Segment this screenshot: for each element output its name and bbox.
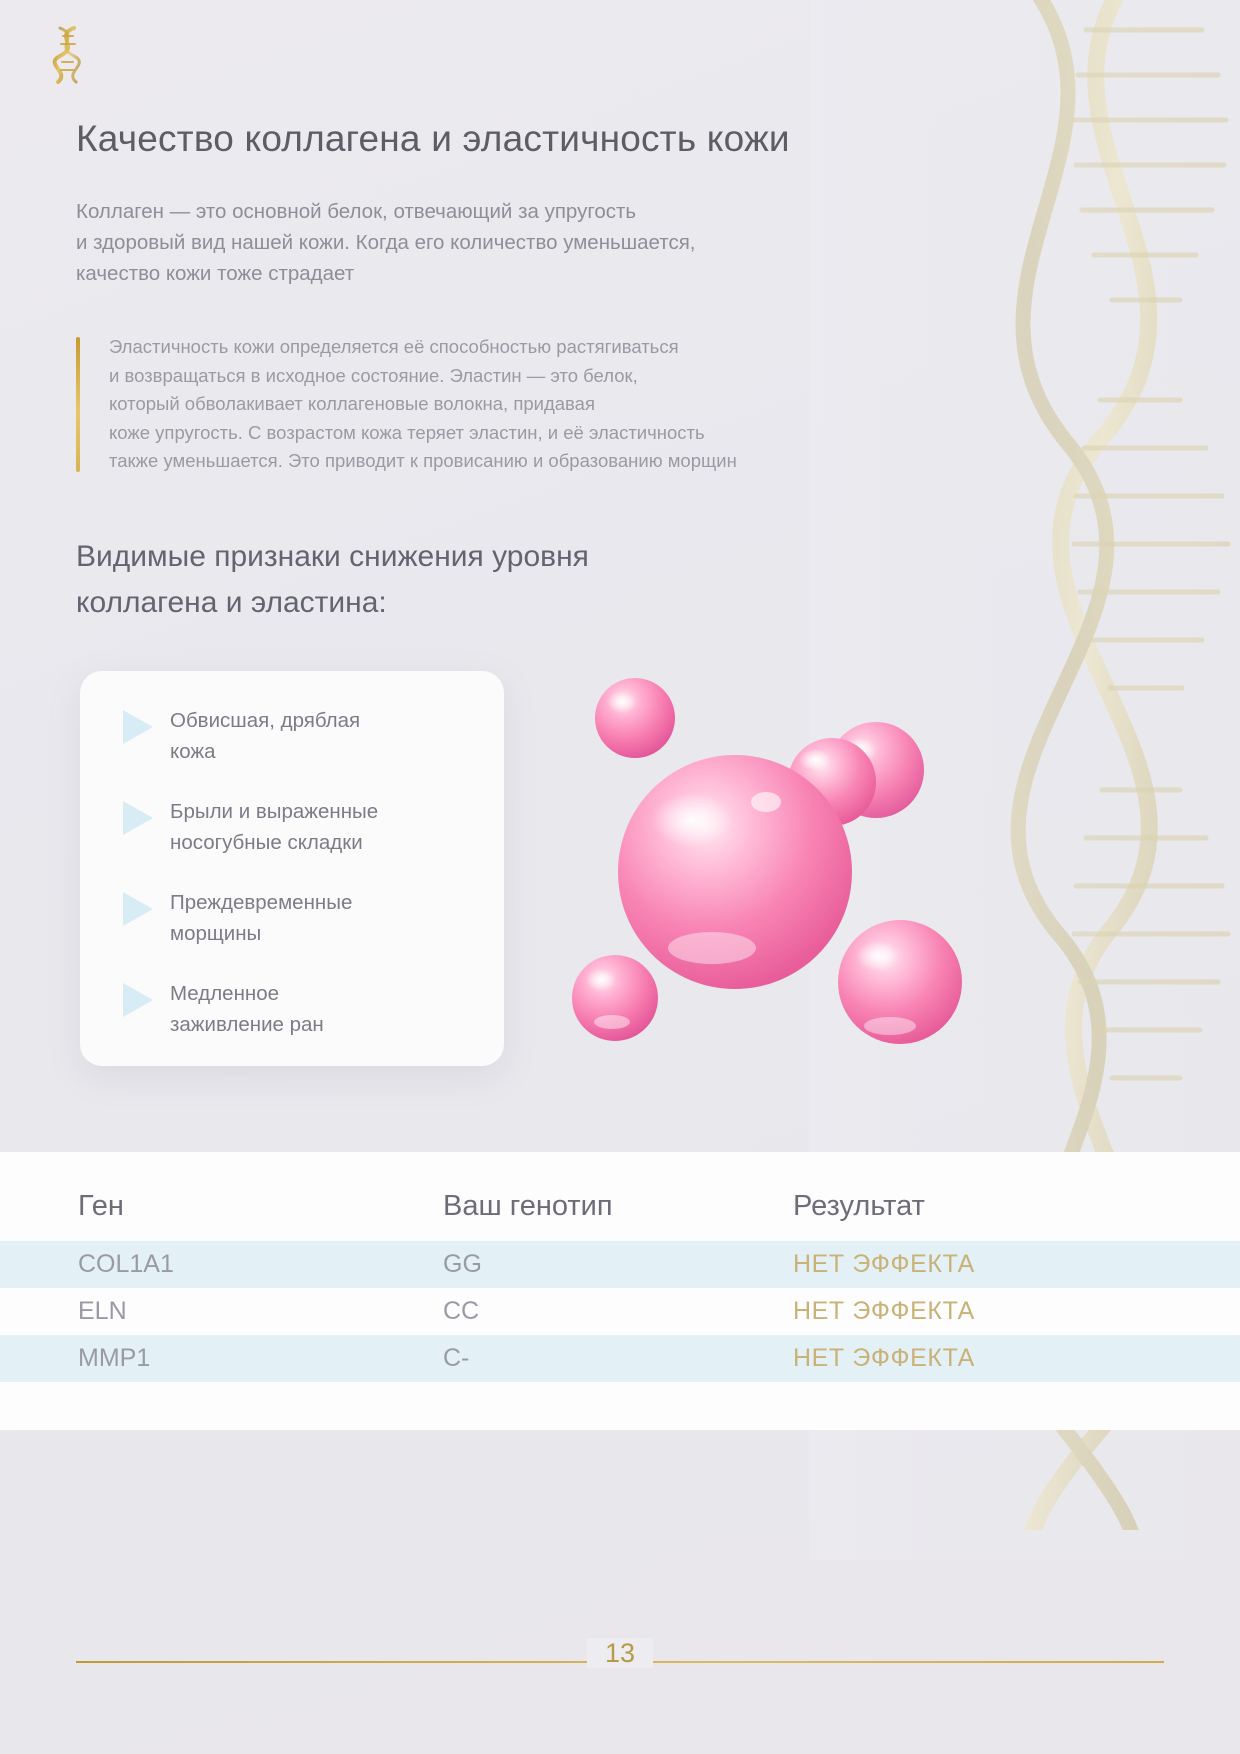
page-number-value: 13 <box>587 1638 653 1668</box>
triangle-bullet-icon <box>123 983 153 1017</box>
dna-helix-logo-icon <box>40 22 96 86</box>
visible-signs-card: Обвисшая, дряблая кожа Брыли и выраженны… <box>80 671 504 1066</box>
page-number: 13 <box>0 1638 1240 1669</box>
pink-collagen-bubbles-illustration <box>560 660 1020 1090</box>
section-heading: Видимые признаки снижения уровня коллаге… <box>76 534 876 626</box>
list-item-line-2: морщины <box>170 922 261 945</box>
triangle-bullet-icon <box>123 892 153 926</box>
list-item-line-1: Обвисшая, дряблая <box>170 709 360 732</box>
list-item-line-1: Медленное <box>170 982 279 1005</box>
list-item: Медленное заживление ран <box>102 976 480 1040</box>
triangle-bullet-icon <box>123 710 153 744</box>
cell-result: НЕТ ЭФФЕКТА <box>775 1335 1240 1382</box>
gene-results-table: Ген Ваш генотип Результат COL1A1 GG НЕТ … <box>0 1152 1240 1430</box>
list-item-text: Брыли и выраженные носогубные складки <box>170 794 378 858</box>
lead-line-2: и здоровый вид нашей кожи. Когда его кол… <box>76 227 976 258</box>
list-item-line-1: Преждевременные <box>170 891 352 914</box>
column-header-result: Результат <box>775 1152 1240 1241</box>
page-title: Качество коллагена и эластичность кожи <box>76 118 976 160</box>
column-header-genotype: Ваш генотип <box>365 1152 775 1241</box>
list-item-line-2: носогубные складки <box>170 831 363 854</box>
list-item-line-2: заживление ран <box>170 1013 324 1036</box>
list-item: Обвисшая, дряблая кожа <box>102 703 480 767</box>
table-bottom-spacer <box>0 1382 1240 1430</box>
cell-genotype: CC <box>365 1288 775 1335</box>
cell-gene: COL1A1 <box>0 1241 365 1288</box>
table: Ген Ваш генотип Результат COL1A1 GG НЕТ … <box>0 1152 1240 1382</box>
list-item: Преждевременные морщины <box>102 885 480 949</box>
callout-line-3: который обволакивает коллагеновые волокн… <box>109 393 595 414</box>
page-canvas: Качество коллагена и эластичность кожи К… <box>0 0 1240 1754</box>
list-item-line-1: Брыли и выраженные <box>170 800 378 823</box>
triangle-bullet-icon <box>123 801 153 835</box>
list-item: Брыли и выраженные носогубные складки <box>102 794 480 858</box>
cell-genotype: GG <box>365 1241 775 1288</box>
callout-line-5: также уменьшается. Это приводит к провис… <box>109 450 737 471</box>
column-header-gene: Ген <box>0 1152 365 1241</box>
lead-line-1: Коллаген — это основной белок, отвечающи… <box>76 196 976 227</box>
cell-result: НЕТ ЭФФЕКТА <box>775 1288 1240 1335</box>
table-row: ELN CC НЕТ ЭФФЕКТА <box>0 1288 1240 1335</box>
callout-block: Эластичность кожи определяется её способ… <box>76 333 976 476</box>
table-header-row: Ген Ваш генотип Результат <box>0 1152 1240 1241</box>
cell-genotype: C- <box>365 1335 775 1382</box>
cell-result: НЕТ ЭФФЕКТА <box>775 1241 1240 1288</box>
section-heading-line-1: Видимые признаки снижения уровня <box>76 540 589 573</box>
table-row: MMP1 C- НЕТ ЭФФЕКТА <box>0 1335 1240 1382</box>
list-item-text: Преждевременные морщины <box>170 885 352 949</box>
table-row: COL1A1 GG НЕТ ЭФФЕКТА <box>0 1241 1240 1288</box>
list-item-text: Медленное заживление ран <box>170 976 324 1040</box>
lead-line-3: качество кожи тоже страдает <box>76 258 976 289</box>
callout-text: Эластичность кожи определяется её способ… <box>109 333 976 476</box>
cell-gene: MMP1 <box>0 1335 365 1382</box>
cell-gene: ELN <box>0 1288 365 1335</box>
list-item-text: Обвисшая, дряблая кожа <box>170 703 360 767</box>
callout-line-1: Эластичность кожи определяется её способ… <box>109 336 679 357</box>
callout-line-2: и возвращаться в исходное состояние. Эла… <box>109 365 638 386</box>
lead-paragraph: Коллаген — это основной белок, отвечающи… <box>76 196 976 289</box>
callout-line-4: коже упругость. С возрастом кожа теряет … <box>109 422 705 443</box>
list-item-line-2: кожа <box>170 740 215 763</box>
section-heading-line-2: коллагена и эластина: <box>76 586 387 619</box>
